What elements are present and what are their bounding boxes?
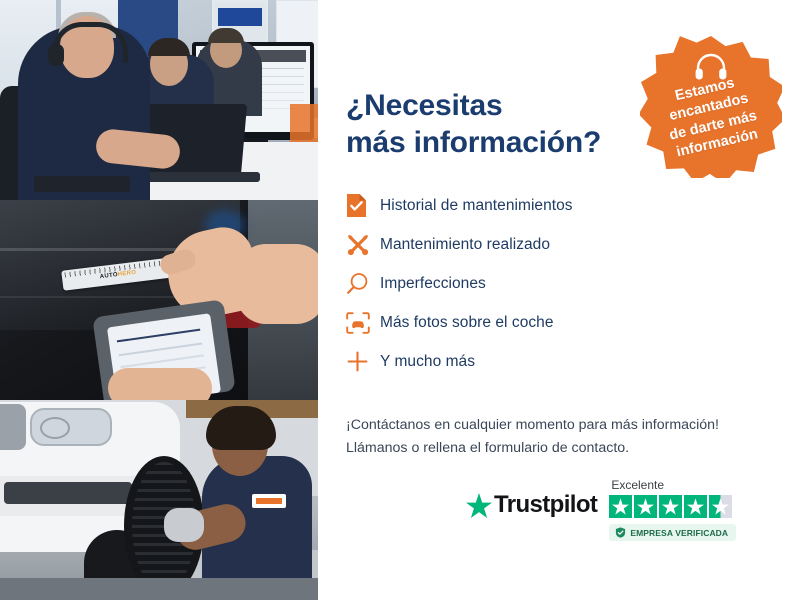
feature-label: Historial de mantenimientos [380,197,573,215]
trustpilot-star-filled [659,495,682,518]
car-headlight-shape [30,408,112,446]
magnifier-icon [346,272,380,295]
verified-company-badge: EMPRESA VERIFICADA [609,524,736,541]
agent-headset-cup-shape [48,44,64,66]
contact-text-line-1: ¡Contáctanos en cualquier momento para m… [346,417,719,433]
page-title-line-2: más información? [346,126,601,159]
checklist-document-icon [346,193,380,218]
info-banner: AUTOHERO [0,0,800,600]
content-panel: ¿Necesitas más información? Estamos enca… [318,0,800,600]
list-item: Mantenimiento realizado [346,225,676,264]
car-grille-shape [0,404,26,450]
trustpilot-star-filled [684,495,707,518]
ruler-brand-hero: HERO [118,270,137,278]
trustpilot-star-filled [634,495,657,518]
trustpilot-widget[interactable]: Trustpilot Excelente [466,478,766,543]
page-title-line-1: ¿Necesitas [346,89,502,122]
contact-text-line-2: Llámanos o rellena el formulario de cont… [346,440,629,456]
ruler-brand-auto: AUTO [100,272,119,280]
mechanic-wheel-inspection-photo [0,400,318,600]
trustpilot-rating: Excelente EMPRESA VERIFICADA [609,478,736,543]
verified-company-label: EMPRESA VERIFICADA [630,528,728,538]
list-item: Imperfecciones [346,264,676,303]
trustpilot-star-filled [609,495,632,518]
feature-label: Más fotos sobre el coche [380,314,554,332]
trustpilot-stars [609,495,736,518]
crossed-tools-icon [346,233,380,257]
trustpilot-star-half [709,495,732,518]
agent-middle-hair-shape [148,38,190,56]
feature-label: Imperfecciones [380,275,486,293]
inspector-hand-lower-shape [108,368,212,400]
contact-text: ¡Contáctanos en cualquier momento para m… [346,414,776,460]
car-lift-shape [0,578,318,600]
mechanic-hair-shape [206,406,276,450]
shield-check-icon [615,527,626,538]
list-item: Historial de mantenimientos [346,186,676,225]
mechanic-glove-shape [164,508,204,542]
car-inspection-ruler-photo: AUTOHERO [0,200,318,400]
car-photo-frame-icon [346,312,380,334]
feature-list: Historial de mantenimientos M [346,186,676,381]
call-center-agents-photo [0,0,318,200]
desk-tablet-shape [34,176,130,192]
trustpilot-wordmark: Trustpilot [494,491,597,519]
list-item: Más fotos sobre el coche [346,303,676,342]
page-title: ¿Necesitas más información? [346,88,646,161]
plus-icon [346,350,380,373]
mechanic-logo-shape [252,494,286,508]
feature-label: Mantenimiento realizado [380,236,550,254]
trustpilot-rating-label: Excelente [611,478,736,492]
photo-column: AUTOHERO [0,0,318,600]
trustpilot-logo: Trustpilot [466,491,597,519]
feature-label: Y mucho más [380,353,475,371]
list-item: Y mucho más [346,342,676,381]
trustpilot-star-icon [466,493,492,518]
car-crease-line-secondary-shape [0,296,200,298]
car-air-intake-shape [4,482,132,504]
support-badge: Estamos encantados de darte más informac… [640,36,782,178]
